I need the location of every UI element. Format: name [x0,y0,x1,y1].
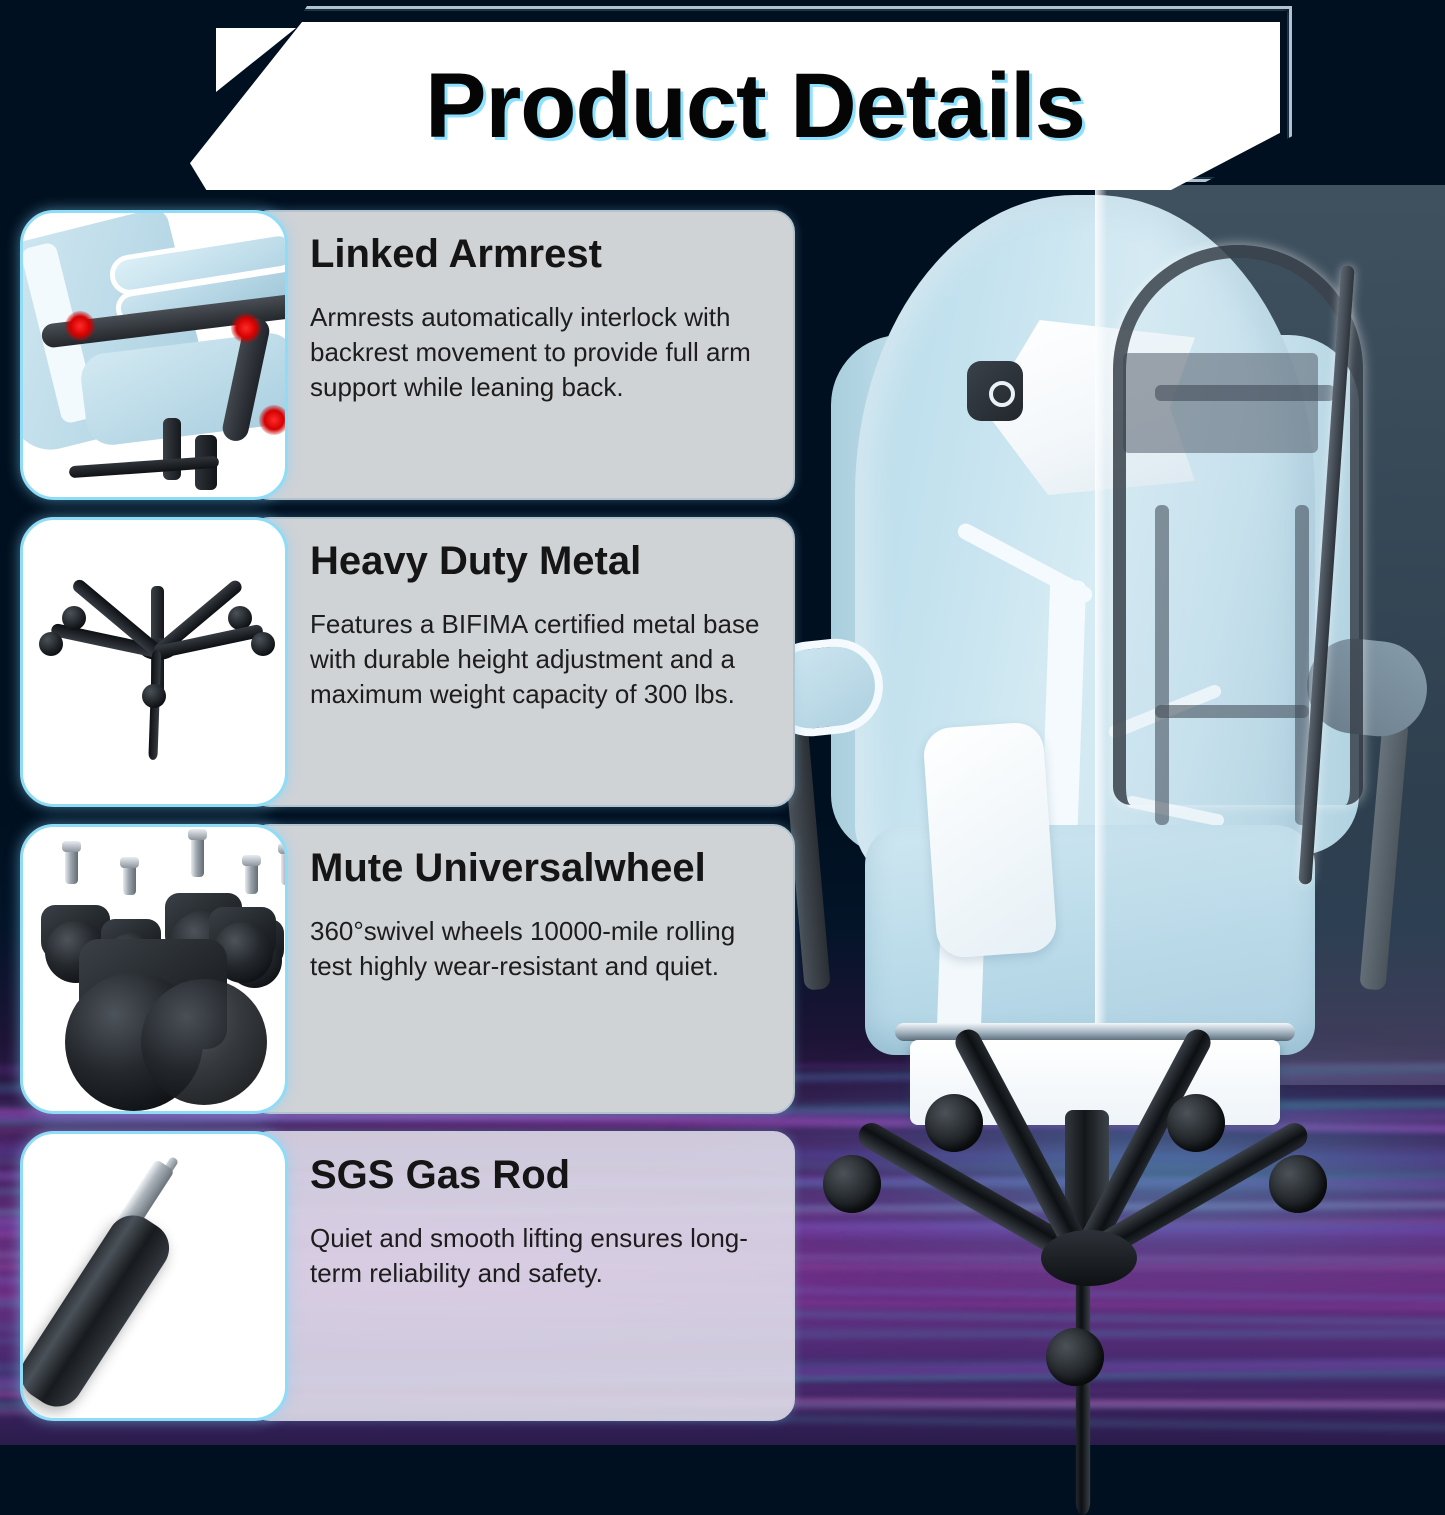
feature-text-block: SGS Gas Rod Quiet and smooth lifting ens… [310,1131,788,1421]
caster-photo-stem-cap [242,855,261,866]
feature-card-list: Linked Armrest Armrests automatically in… [0,0,820,1445]
feature-card-heavy-duty-metal[interactable]: Heavy Duty Metal Features a BIFIMA certi… [20,517,795,807]
internal-frame-bar [1155,505,1169,825]
feature-description: Features a BIFIMA certified metal base w… [310,607,778,711]
chair-caster-wheel [1269,1155,1327,1213]
caster-photo-stem [191,835,204,877]
feature-image-tile-mute-universalwheel [20,824,288,1114]
chair-base-hub [1041,1230,1137,1286]
internal-frame-bar [1155,705,1309,718]
feature-description: 360°swivel wheels 10000-mile rolling tes… [310,914,778,984]
chair-caster-wheel [1046,1328,1104,1386]
internal-frame-bar [1155,385,1335,401]
chair-caster-wheel [823,1155,881,1213]
product-image-gaming-chair [745,185,1445,1445]
feature-text-block: Linked Armrest Armrests automatically in… [310,210,788,500]
hotspot-indicator-icon [231,313,261,343]
feature-title: Linked Armrest [310,232,778,276]
caster-photo-stem [65,847,78,884]
feature-image-tile-sgs-gas-rod [20,1131,288,1421]
metal-base-photo-caster [62,606,86,630]
feature-text-block: Mute Universalwheel 360°swivel wheels 10… [310,824,788,1114]
caster-photo-stem-cap [62,841,81,852]
feature-description: Quiet and smooth lifting ensures long-te… [310,1221,778,1291]
xray-edge-glow [1095,185,1107,1085]
chair-xray-overlay [1095,185,1445,1085]
metal-base-photo-caster [39,632,63,656]
feature-text-block: Heavy Duty Metal Features a BIFIMA certi… [310,517,788,807]
chair-lumbar-cushion [922,721,1058,959]
hotspot-indicator-icon [65,311,95,341]
caster-photo-stem-cap [188,829,207,840]
caster-photo-stem-cap [120,857,139,868]
chair-caster-wheel [1167,1094,1225,1152]
caster-photo-stem [281,849,288,885]
metal-base-photo-caster [251,632,275,656]
feature-image-tile-heavy-duty-metal [20,517,288,807]
feature-card-linked-armrest[interactable]: Linked Armrest Armrests automatically in… [20,210,795,500]
feature-title: Mute Universalwheel [310,846,778,890]
feature-description: Armrests automatically interlock with ba… [310,300,778,404]
gas-rod-photo-cylinder [20,1206,179,1417]
metal-base-photo-caster [142,684,166,708]
hotspot-indicator-icon [259,405,288,435]
chair-headrest-ring [989,381,1015,407]
feature-title: SGS Gas Rod [310,1153,778,1197]
chair-caster-wheel [925,1094,983,1152]
feature-card-sgs-gas-rod[interactable]: SGS Gas Rod Quiet and smooth lifting ens… [20,1131,795,1421]
caster-photo-wheel-front-rear [141,979,267,1105]
feature-title: Heavy Duty Metal [310,539,778,583]
feature-card-mute-universalwheel[interactable]: Mute Universalwheel 360°swivel wheels 10… [20,824,795,1114]
feature-image-tile-linked-armrest [20,210,288,500]
